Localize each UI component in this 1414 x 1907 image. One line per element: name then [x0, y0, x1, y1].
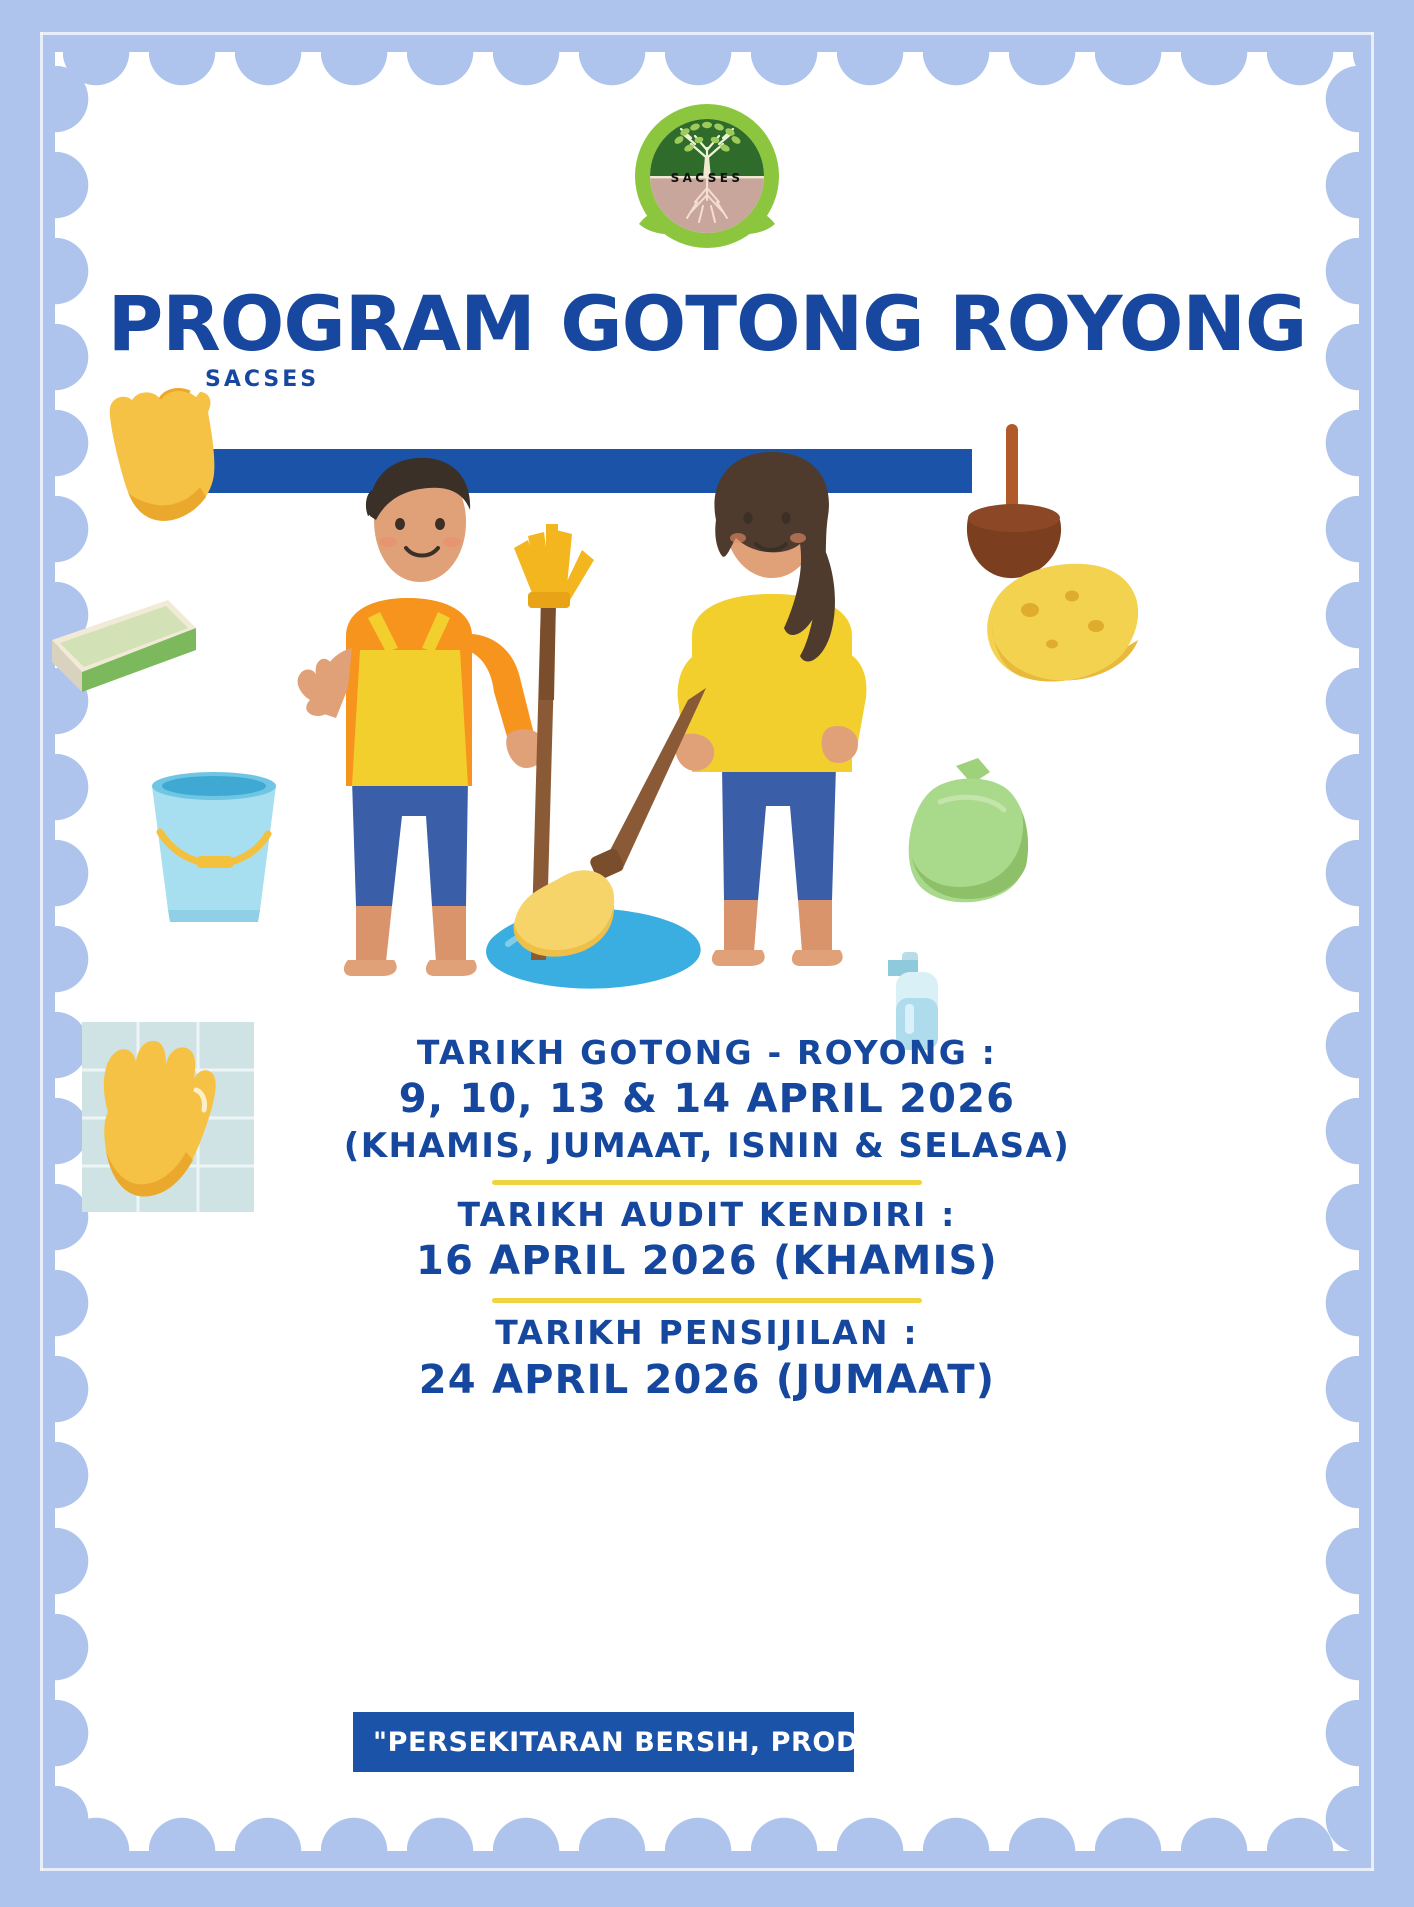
plunger [967, 424, 1061, 578]
yellow-rubber-glove-top-left [110, 390, 215, 521]
broom [514, 524, 594, 960]
page-title: PROGRAM GOTONG ROYONG [0, 286, 1414, 362]
mop [514, 688, 706, 957]
gotong-royong-label: TARIKH GOTONG - ROYONG : [0, 1032, 1414, 1074]
water-puddle [486, 908, 701, 989]
girl-with-mop [675, 452, 866, 966]
divider-rule-2 [492, 1298, 922, 1303]
dates-block: TARIKH GOTONG - ROYONG : 9, 10, 13 & 14 … [0, 1032, 1414, 1406]
divider-rule-1 [492, 1180, 922, 1185]
poster-root: STANDARD SARAWAK CIVIL SERVICE ENVIRONME… [0, 0, 1414, 1903]
green-sponge [52, 600, 196, 692]
blue-bucket [152, 772, 276, 922]
gotong-royong-days: (KHAMIS, JUMAAT, ISNIN & SELASA) [0, 1125, 1414, 1169]
slogan-banner: "PERSEKITARAN BERSIH, PRODUKTIVITI MENIN… [353, 1712, 854, 1772]
green-garbage-bag [909, 758, 1028, 902]
logo-center-text: SACSES [671, 171, 744, 185]
audit-label: TARIKH AUDIT KENDIRI : [0, 1194, 1414, 1236]
yellow-sponge [987, 564, 1138, 682]
certification-label: TARIKH PENSIJILAN : [0, 1312, 1414, 1354]
audit-value: 16 APRIL 2026 (KHAMIS) [0, 1236, 1414, 1287]
slogan-text: "PERSEKITARAN BERSIH, PRODUKTIVITI MENIN… [353, 1727, 854, 1758]
sacses-logo: STANDARD SARAWAK CIVIL SERVICE ENVIRONME… [591, 96, 823, 256]
page-subtitle: SACSES [205, 367, 319, 392]
boy-with-broom [298, 458, 546, 976]
title-blue-bar [203, 449, 972, 493]
certification-value: 24 APRIL 2026 (JUMAAT) [0, 1355, 1414, 1406]
gotong-royong-value: 9, 10, 13 & 14 APRIL 2026 [0, 1074, 1414, 1125]
